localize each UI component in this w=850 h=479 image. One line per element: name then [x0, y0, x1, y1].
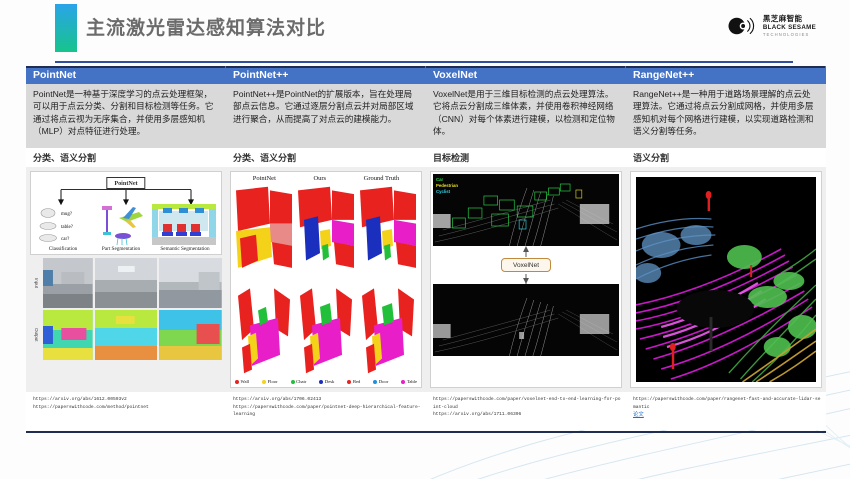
pointnet-output-scene-3	[159, 310, 222, 360]
pointnet-row-label-output: Output	[30, 310, 43, 360]
legend-swatch-table	[401, 380, 405, 384]
pointnetpp-tile-r1c1	[234, 183, 294, 279]
column-header-voxelnet: VoxelNet	[426, 66, 626, 84]
pointnetpp-legend: Wall Floor Chair Desk Bed Door Table	[234, 379, 418, 384]
column-header-pointnet: PointNet	[26, 66, 226, 84]
pointnetpp-tile-r1c3	[358, 183, 418, 279]
black-sesame-logo-icon	[727, 14, 757, 38]
page-title: 主流激光雷达感知算法对比	[86, 13, 326, 40]
pointnetpp-scene-rows	[234, 183, 418, 377]
pointnet-output-scene-1: Output	[30, 310, 93, 360]
pointnetpp-tile-r2c2	[296, 281, 356, 377]
logo-brand-en: BLACK SESAME	[763, 25, 816, 31]
legend-swatch-desk	[319, 380, 323, 384]
legend-swatch-wall	[235, 380, 239, 384]
pointnet-caption-part-segmentation: Part Segmentation	[91, 246, 151, 252]
legend-item-table: Table	[401, 379, 417, 384]
pointnetpp-header-ground-truth: Ground Truth	[364, 175, 400, 182]
legend-label-bed: Bed	[353, 379, 360, 384]
slide: 主流激光雷达感知算法对比 黑芝麻智能 BLACK SESAME TECHNOLO…	[0, 0, 850, 479]
pointnetpp-header-pointnet: PointNet	[253, 175, 276, 182]
legend-item-bed: Bed	[347, 379, 360, 384]
pointnetpp-scene-row-2	[234, 281, 418, 377]
logo-brand-sub: TECHNOLOGIES	[763, 33, 816, 37]
links-pointnet: https://arxiv.org/abs/1612.00593v2 https…	[26, 392, 226, 430]
voxelnet-raw-pointcloud-scene	[433, 284, 619, 356]
comparison-table: PointNet PointNet++ VoxelNet RangeNet++ …	[26, 66, 826, 430]
link-voxelnet-arxiv[interactable]: https://arxiv.org/abs/1711.06396	[433, 411, 621, 419]
figure-panel-pointnetpp: PointNet Ours Ground Truth	[226, 167, 426, 392]
link-voxelnet-pwc[interactable]: https://paperswithcode.com/paper/voxelne…	[433, 396, 621, 411]
legend-item-chair: Chair	[291, 379, 307, 384]
voxelnet-class-legend: Car Pedestrian Cyclist	[436, 177, 458, 194]
pointnet-input-scene-3	[159, 258, 222, 308]
svg-text:mug?: mug?	[61, 212, 73, 217]
column-header-rangenetpp: RangeNet++	[626, 66, 826, 84]
legend-label-desk: Desk	[325, 379, 334, 384]
pointnet-input-scene-1: Input	[30, 258, 93, 308]
link-pointnetpp-pwc[interactable]: https://paperswithcode.com/paper/pointne…	[233, 404, 421, 419]
pointnetpp-scene-row-1	[234, 183, 418, 279]
legend-label-floor: Floor	[268, 379, 278, 384]
link-pointnet-arxiv[interactable]: https://arxiv.org/abs/1612.00593v2	[33, 396, 221, 404]
pointnet-row-label-input: Input	[30, 258, 43, 308]
voxelnet-legend-cyclist: Cyclist	[436, 189, 458, 195]
pointnet-node-label: PointNet	[106, 177, 145, 189]
pointnet-teaser-diagram: PointNet	[30, 171, 222, 255]
task-label-voxelnet: 目标检测	[426, 148, 626, 167]
link-pointnetpp-arxiv[interactable]: https://arxiv.org/abs/1706.02413	[233, 396, 421, 404]
link-pointnet-pwc[interactable]: https://paperswithcode.com/method/pointn…	[33, 404, 221, 412]
pointnetpp-tile-r2c1	[234, 281, 294, 377]
description-pointnet: PointNet是一种基于深度学习的点云处理框架，可以用于点云分类、分割和目标检…	[26, 84, 226, 148]
legend-label-wall: Wall	[241, 379, 250, 384]
links-voxelnet: https://paperswithcode.com/paper/voxelne…	[426, 392, 626, 430]
legend-swatch-floor	[262, 380, 266, 384]
task-label-pointnetpp: 分类、语义分割	[226, 148, 426, 167]
table-figure-row: PointNet	[26, 167, 826, 392]
pointnet-input-scene-2	[95, 258, 158, 308]
table-task-row: 分类、语义分割 分类、语义分割 目标检测 语义分割	[26, 148, 826, 167]
figure-panel-voxelnet: Car Pedestrian Cyclist	[426, 167, 626, 392]
pointnet-caption-semantic-segmentation: Semantic Segmentation	[149, 246, 221, 252]
header-divider	[55, 61, 793, 63]
pointnet-scene-grid: Input	[30, 258, 222, 360]
description-voxelnet: VoxelNet是用于三维目标检测的点云处理算法。它将点云分割成三维体素，并使用…	[426, 84, 626, 148]
links-pointnetpp: https://arxiv.org/abs/1706.02413 https:/…	[226, 392, 426, 430]
rangenetpp-semantic-figure	[630, 171, 822, 388]
figure-panel-pointnet: PointNet	[26, 167, 226, 392]
pointnetpp-header-ours: Ours	[313, 175, 326, 182]
brand-logo: 黑芝麻智能 BLACK SESAME TECHNOLOGIES	[727, 14, 816, 38]
pointnet-output-scene-2	[95, 310, 158, 360]
table-links-row: https://arxiv.org/abs/1612.00593v2 https…	[26, 392, 826, 430]
svg-text:car?: car?	[61, 237, 70, 242]
legend-swatch-bed	[347, 380, 351, 384]
link-rangenetpp-paper[interactable]: 论文	[633, 411, 821, 420]
rangenetpp-semantic-scene	[636, 177, 816, 382]
header-accent-bar	[55, 4, 77, 52]
pointnet-caption-classification: Classification	[35, 246, 91, 252]
legend-item-door: Door	[373, 379, 388, 384]
legend-label-table: Table	[407, 379, 417, 384]
legend-label-door: Door	[379, 379, 388, 384]
column-header-pointnetpp: PointNet++	[226, 66, 426, 84]
table-bottom-divider	[26, 431, 826, 433]
voxelnet-pipeline-middle: VoxelNet	[433, 246, 619, 284]
description-pointnetpp: PointNet++是PointNet的扩展版本，旨在处理局部点云信息。它通过逐…	[226, 84, 426, 148]
legend-item-desk: Desk	[319, 379, 334, 384]
svg-text:table?: table?	[61, 225, 74, 230]
logo-brand-cn: 黑芝麻智能	[763, 15, 816, 23]
legend-item-wall: Wall	[235, 379, 249, 384]
table-header-row: PointNet PointNet++ VoxelNet RangeNet++	[26, 66, 826, 84]
legend-item-floor: Floor	[262, 379, 277, 384]
legend-label-chair: Chair	[296, 379, 306, 384]
voxelnet-pipeline-figure: Car Pedestrian Cyclist	[430, 171, 622, 388]
links-rangenetpp: https://paperswithcode.com/paper/rangene…	[626, 392, 826, 430]
pointnetpp-tile-r2c3	[358, 281, 418, 377]
pointnetpp-column-headers: PointNet Ours Ground Truth	[234, 175, 418, 182]
legend-swatch-chair	[291, 380, 295, 384]
pointnetpp-comparison-figure: PointNet Ours Ground Truth	[230, 171, 422, 388]
task-label-pointnet: 分类、语义分割	[26, 148, 226, 167]
voxelnet-node-label: VoxelNet	[501, 258, 551, 272]
description-rangenetpp: RangeNet++是一种用于道路场景理解的点云处理算法。它通过将点云分割成网格…	[626, 84, 826, 148]
voxelnet-detection-scene: Car Pedestrian Cyclist	[433, 174, 619, 246]
link-rangenetpp-pwc[interactable]: https://paperswithcode.com/paper/rangene…	[633, 396, 821, 411]
figure-panel-rangenetpp	[626, 167, 826, 392]
task-label-rangenetpp: 语义分割	[626, 148, 826, 167]
pointnetpp-tile-r1c2	[296, 183, 356, 279]
legend-swatch-door	[373, 380, 377, 384]
table-description-row: PointNet是一种基于深度学习的点云处理框架，可以用于点云分类、分割和目标检…	[26, 84, 826, 148]
slide-header: 主流激光雷达感知算法对比 黑芝麻智能 BLACK SESAME TECHNOLO…	[0, 0, 850, 58]
